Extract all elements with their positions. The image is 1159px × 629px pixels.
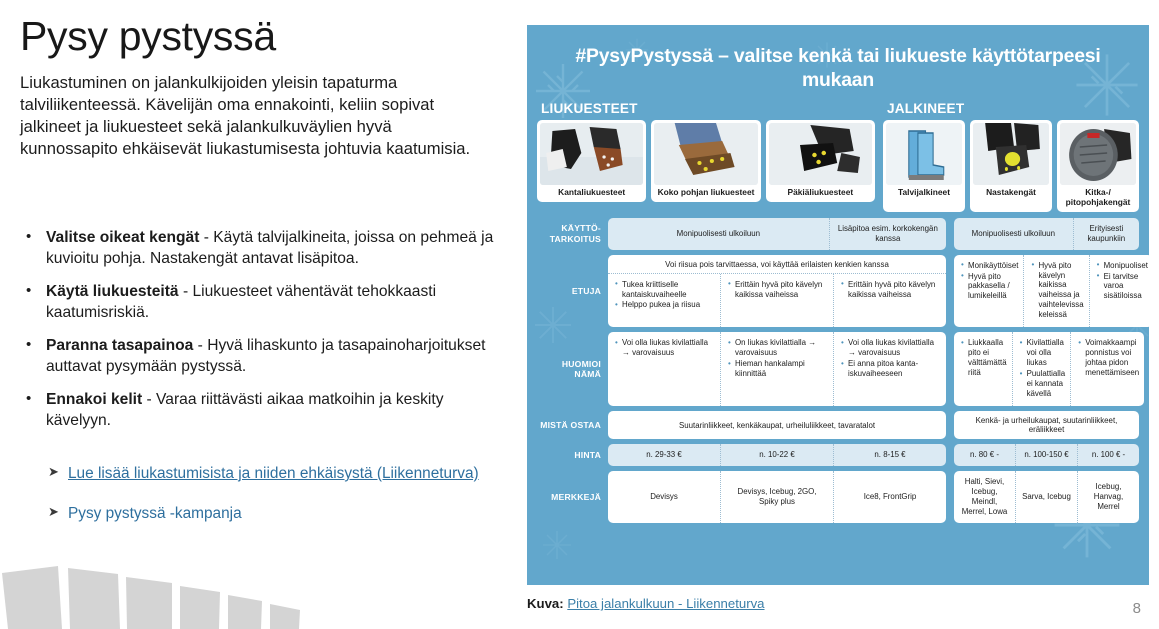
group-liukuesteet: LIUKUESTEET: [537, 101, 875, 211]
photo-kitka-pitopohjakengat: [1060, 123, 1136, 185]
row-block-jalkineet: Liukkaalla pito ei välttämättä riitä Kiv…: [954, 332, 1144, 406]
table-cell: n. 100 € -: [1078, 444, 1139, 466]
cell-bullet: Ei anna pitoa kanta-iskuvaiheeseen: [841, 359, 941, 379]
table-cell: Kivilattialla voi olla liukas Puulattial…: [1013, 332, 1072, 406]
bullet-lead: Ennakoi kelit: [46, 391, 142, 408]
list-item: Käytä liukuesteitä - Liukuesteet vähentä…: [20, 282, 510, 323]
list-item: Valitse oikeat kengät - Käytä talvijalki…: [20, 228, 510, 269]
page-title: Pysy pystyssä: [20, 14, 500, 58]
photo-nastakengat: [973, 123, 1049, 185]
row-block-jalkineet: n. 80 € - n. 100-150 € n. 100 € -: [954, 444, 1139, 466]
product-card-label: Nastakengät: [985, 185, 1037, 200]
bullet-lead: Valitse oikeat kengät: [46, 229, 199, 246]
comparison-table: KÄYTTÖ-TARKOITUS Monipuolisesti ulkoiluu…: [527, 212, 1149, 537]
table-cell: Kenkä- ja urheilukaupat, suutarinliikkee…: [954, 411, 1139, 439]
list-item[interactable]: ➤ Pysy pystyssä -kampanja: [48, 504, 488, 524]
arrow-bullet-icon: ➤: [48, 504, 59, 521]
infographic-panel: #PysyPystyssä – valitse kenkä tai liukue…: [527, 25, 1149, 585]
table-cell: Erittäin hyvä pito kävelyn kaikissa vaih…: [721, 274, 834, 328]
row-label: KÄYTTÖ-TARKOITUS: [537, 218, 608, 250]
row-block-liukuesteet: Voi riisua pois tarvittaessa, voi käyttä…: [608, 255, 946, 328]
cell-bullet: Tukea kriittiselle kantaiskuvaiheelle: [615, 280, 715, 300]
bullet-lead: Paranna tasapainoa: [46, 337, 193, 354]
table-cell: Suutarinliikkeet, kenkäkaupat, urheiluli…: [608, 411, 946, 439]
bullet-list: Valitse oikeat kengät - Käytä talvijalki…: [20, 228, 510, 445]
photo-pakialiukuesteet: [769, 123, 872, 185]
table-cell: Erittäin hyvä pito kävelyn kaikissa vaih…: [834, 274, 946, 328]
table-row-huomioi-nama: HUOMIOI NÄMÄ Voi olla liukas kivilattial…: [537, 332, 1139, 406]
cell-bullet: Liukkaalla pito ei välttämättä riitä: [961, 338, 1007, 378]
table-cell: Icebug, Hanvag, Merrel: [1078, 471, 1139, 523]
list-item: Paranna tasapainoa - Hyvä lihaskunto ja …: [20, 336, 510, 377]
table-row-hinta: HINTA n. 29-33 € n. 10-22 € n. 8-15 € n.…: [537, 444, 1139, 466]
table-cell-note: Voi riisua pois tarvittaessa, voi käyttä…: [608, 255, 946, 274]
product-card-label: Kitka-/ pitopohjakengät: [1060, 185, 1136, 209]
page-number: 8: [1133, 600, 1141, 617]
group-label: JALKINEET: [887, 101, 1139, 116]
decorative-parallelograms: [0, 559, 330, 629]
image-caption: Kuva: Pitoa jalankulkuun - Liikenneturva: [527, 596, 765, 611]
cell-bullet: Helppo pukea ja riisua: [615, 300, 715, 310]
product-card-kitka-pitopohjakengat[interactable]: Kitka-/ pitopohjakengät: [1057, 120, 1139, 211]
table-row-merkkeja: MERKKEJÄ Devisys Devisys, Icebug, 2GO, S…: [537, 471, 1139, 523]
product-card-kantaliukuesteet[interactable]: Kantaliukuesteet: [537, 120, 646, 202]
arrow-bullet-icon: ➤: [48, 464, 59, 481]
table-cell: Liukkaalla pito ei välttämättä riitä: [954, 332, 1013, 406]
cell-bullet: Monikäyttöiset: [961, 261, 1018, 271]
cell-bullet: Voi olla liukas kivilattialla → varovais…: [615, 338, 715, 358]
table-cell: Halti, Sievi, Icebug, Meindl, Merrel, Lo…: [954, 471, 1016, 523]
cell-bullet: Ei tarvitse varoa sisätiloissa: [1097, 272, 1148, 302]
row-block-jalkineet: Monikäyttöiset Hyvä pito pakkasella / lu…: [954, 255, 1149, 328]
product-card-label: Päkiäliukuesteet: [787, 185, 855, 200]
row-block-liukuesteet: Monipuolisesti ulkoiluun Lisäpitoa esim.…: [608, 218, 946, 250]
cell-bullet: Hieman hankalampi kiinnittää: [728, 359, 828, 379]
table-cell: Erityisesti kaupunkiin: [1074, 218, 1139, 250]
row-block-liukuesteet: Voi olla liukas kivilattialla → varovais…: [608, 332, 946, 406]
table-cell: n. 100-150 €: [1016, 444, 1078, 466]
product-card-label: Talvijalkineet: [897, 185, 951, 200]
row-label: ETUJA: [537, 255, 608, 328]
row-label: HUOMIOI NÄMÄ: [537, 332, 608, 406]
product-card-groups: LIUKUESTEET: [527, 92, 1149, 211]
cell-bullet: Erittäin hyvä pito kävelyn kaikissa vaih…: [841, 280, 941, 300]
link-list: ➤ Lue lisää liukastumisista ja niiden eh…: [48, 464, 488, 544]
table-cell: Monipuoliset Ei tarvitse varoa sisätiloi…: [1090, 255, 1149, 328]
table-cell: Voimakkaampi ponnistus voi johtaa pidon …: [1071, 332, 1144, 406]
row-block-jalkineet: Halti, Sievi, Icebug, Meindl, Merrel, Lo…: [954, 471, 1139, 523]
table-cell: Ice8, FrontGrip: [834, 471, 946, 523]
table-cell: n. 8-15 €: [834, 444, 946, 466]
table-cell: Voi olla liukas kivilattialla → varovais…: [834, 332, 946, 406]
table-cell: n. 10-22 €: [721, 444, 834, 466]
table-cell: On liukas kivilattialla → varovaisuus Hi…: [721, 332, 834, 406]
cell-bullet: Hyvä pito pakkasella / lumikeleillä: [961, 272, 1018, 302]
cell-bullet: Kivilattialla voi olla liukas: [1020, 338, 1066, 368]
product-card-nastakengat[interactable]: Nastakengät: [970, 120, 1052, 211]
table-cell: Monipuolisesti ulkoiluun: [954, 218, 1074, 250]
bullet-lead: Käytä liukuesteitä: [46, 283, 179, 300]
photo-talvijalkineet: [886, 123, 962, 185]
intro-paragraph: Liukastuminen on jalankulkijoiden yleisi…: [20, 72, 490, 160]
cell-bullet: Voi olla liukas kivilattialla → varovais…: [841, 338, 941, 358]
infographic-title: #PysyPystyssä – valitse kenkä tai liukue…: [527, 25, 1149, 92]
table-cell: n. 80 € -: [954, 444, 1016, 466]
table-row-etuja: ETUJA Voi riisua pois tarvittaessa, voi …: [537, 255, 1139, 328]
cell-bullet: Hyvä pito kävelyn kaikissa vaiheissa ja …: [1031, 261, 1083, 321]
row-block-liukuesteet: n. 29-33 € n. 10-22 € n. 8-15 €: [608, 444, 946, 466]
table-cell: Devisys: [608, 471, 721, 523]
group-jalkineet: JALKINEET Talvijalkineet: [883, 101, 1139, 211]
caption-prefix: Kuva:: [527, 596, 564, 611]
cell-bullet: On liukas kivilattialla → varovaisuus: [728, 338, 828, 358]
row-label: MISTÄ OSTAA: [537, 411, 608, 439]
product-card-label: Koko pohjan liukuesteet: [657, 185, 756, 200]
table-cell: Monikäyttöiset Hyvä pito pakkasella / lu…: [954, 255, 1024, 328]
cell-bullet: Voimakkaampi ponnistus voi johtaa pidon …: [1078, 338, 1139, 378]
table-cell: Devisys, Icebug, 2GO, Spiky plus: [721, 471, 834, 523]
row-block-jalkineet: Kenkä- ja urheilukaupat, suutarinliikkee…: [954, 411, 1139, 439]
table-cell: Sarva, Icebug: [1016, 471, 1078, 523]
slide-text-column: Pysy pystyssä Liukastuminen on jalankulk…: [20, 14, 500, 161]
product-card-koko-pohjan-liukuesteet[interactable]: Koko pohjan liukuesteet: [651, 120, 760, 202]
row-label: HINTA: [537, 444, 608, 466]
table-cell: Voi olla liukas kivilattialla → varovais…: [608, 332, 721, 406]
product-card-talvijalkineet[interactable]: Talvijalkineet: [883, 120, 965, 211]
product-card-pakialiukuesteet[interactable]: Päkiäliukuesteet: [766, 120, 875, 202]
link-liikenneturva-slipping[interactable]: Lue lisää liukastumisista ja niiden ehkä…: [68, 465, 479, 482]
table-row-kayttotarkoitus: KÄYTTÖ-TARKOITUS Monipuolisesti ulkoiluu…: [537, 218, 1139, 250]
cell-bullet: Erittäin hyvä pito kävelyn kaikissa vaih…: [728, 280, 828, 300]
list-item[interactable]: ➤ Lue lisää liukastumisista ja niiden eh…: [48, 464, 488, 484]
table-cell: Hyvä pito kävelyn kaikissa vaiheissa ja …: [1024, 255, 1089, 328]
row-block-jalkineet: Monipuolisesti ulkoiluun Erityisesti kau…: [954, 218, 1139, 250]
table-cell: Lisäpitoa esim. korkokengän kanssa: [830, 218, 946, 250]
row-label: MERKKEJÄ: [537, 471, 608, 523]
row-block-liukuesteet: Devisys Devisys, Icebug, 2GO, Spiky plus…: [608, 471, 946, 523]
table-cell: n. 29-33 €: [608, 444, 721, 466]
table-cell: Tukea kriittiselle kantaiskuvaiheelle He…: [608, 274, 721, 328]
link-pysy-pystyssa-campaign[interactable]: Pysy pystyssä -kampanja: [68, 505, 242, 522]
cell-bullet: Monipuoliset: [1097, 261, 1148, 271]
cell-bullet: Puulattialla ei kannata kävellä: [1020, 369, 1066, 399]
group-label: LIUKUESTEET: [541, 101, 875, 116]
caption-source-link[interactable]: Pitoa jalankulkuun - Liikenneturva: [567, 596, 764, 611]
photo-kantaliukuesteet: [540, 123, 643, 185]
list-item: Ennakoi kelit - Varaa riittävästi aikaa …: [20, 390, 510, 431]
row-block-liukuesteet: Suutarinliikkeet, kenkäkaupat, urheiluli…: [608, 411, 946, 439]
product-card-label: Kantaliukuesteet: [557, 185, 626, 200]
table-row-mista-ostaa: MISTÄ OSTAA Suutarinliikkeet, kenkäkaupa…: [537, 411, 1139, 439]
table-cell: Monipuolisesti ulkoiluun: [608, 218, 830, 250]
photo-koko-pohjan-liukuesteet: [654, 123, 757, 185]
